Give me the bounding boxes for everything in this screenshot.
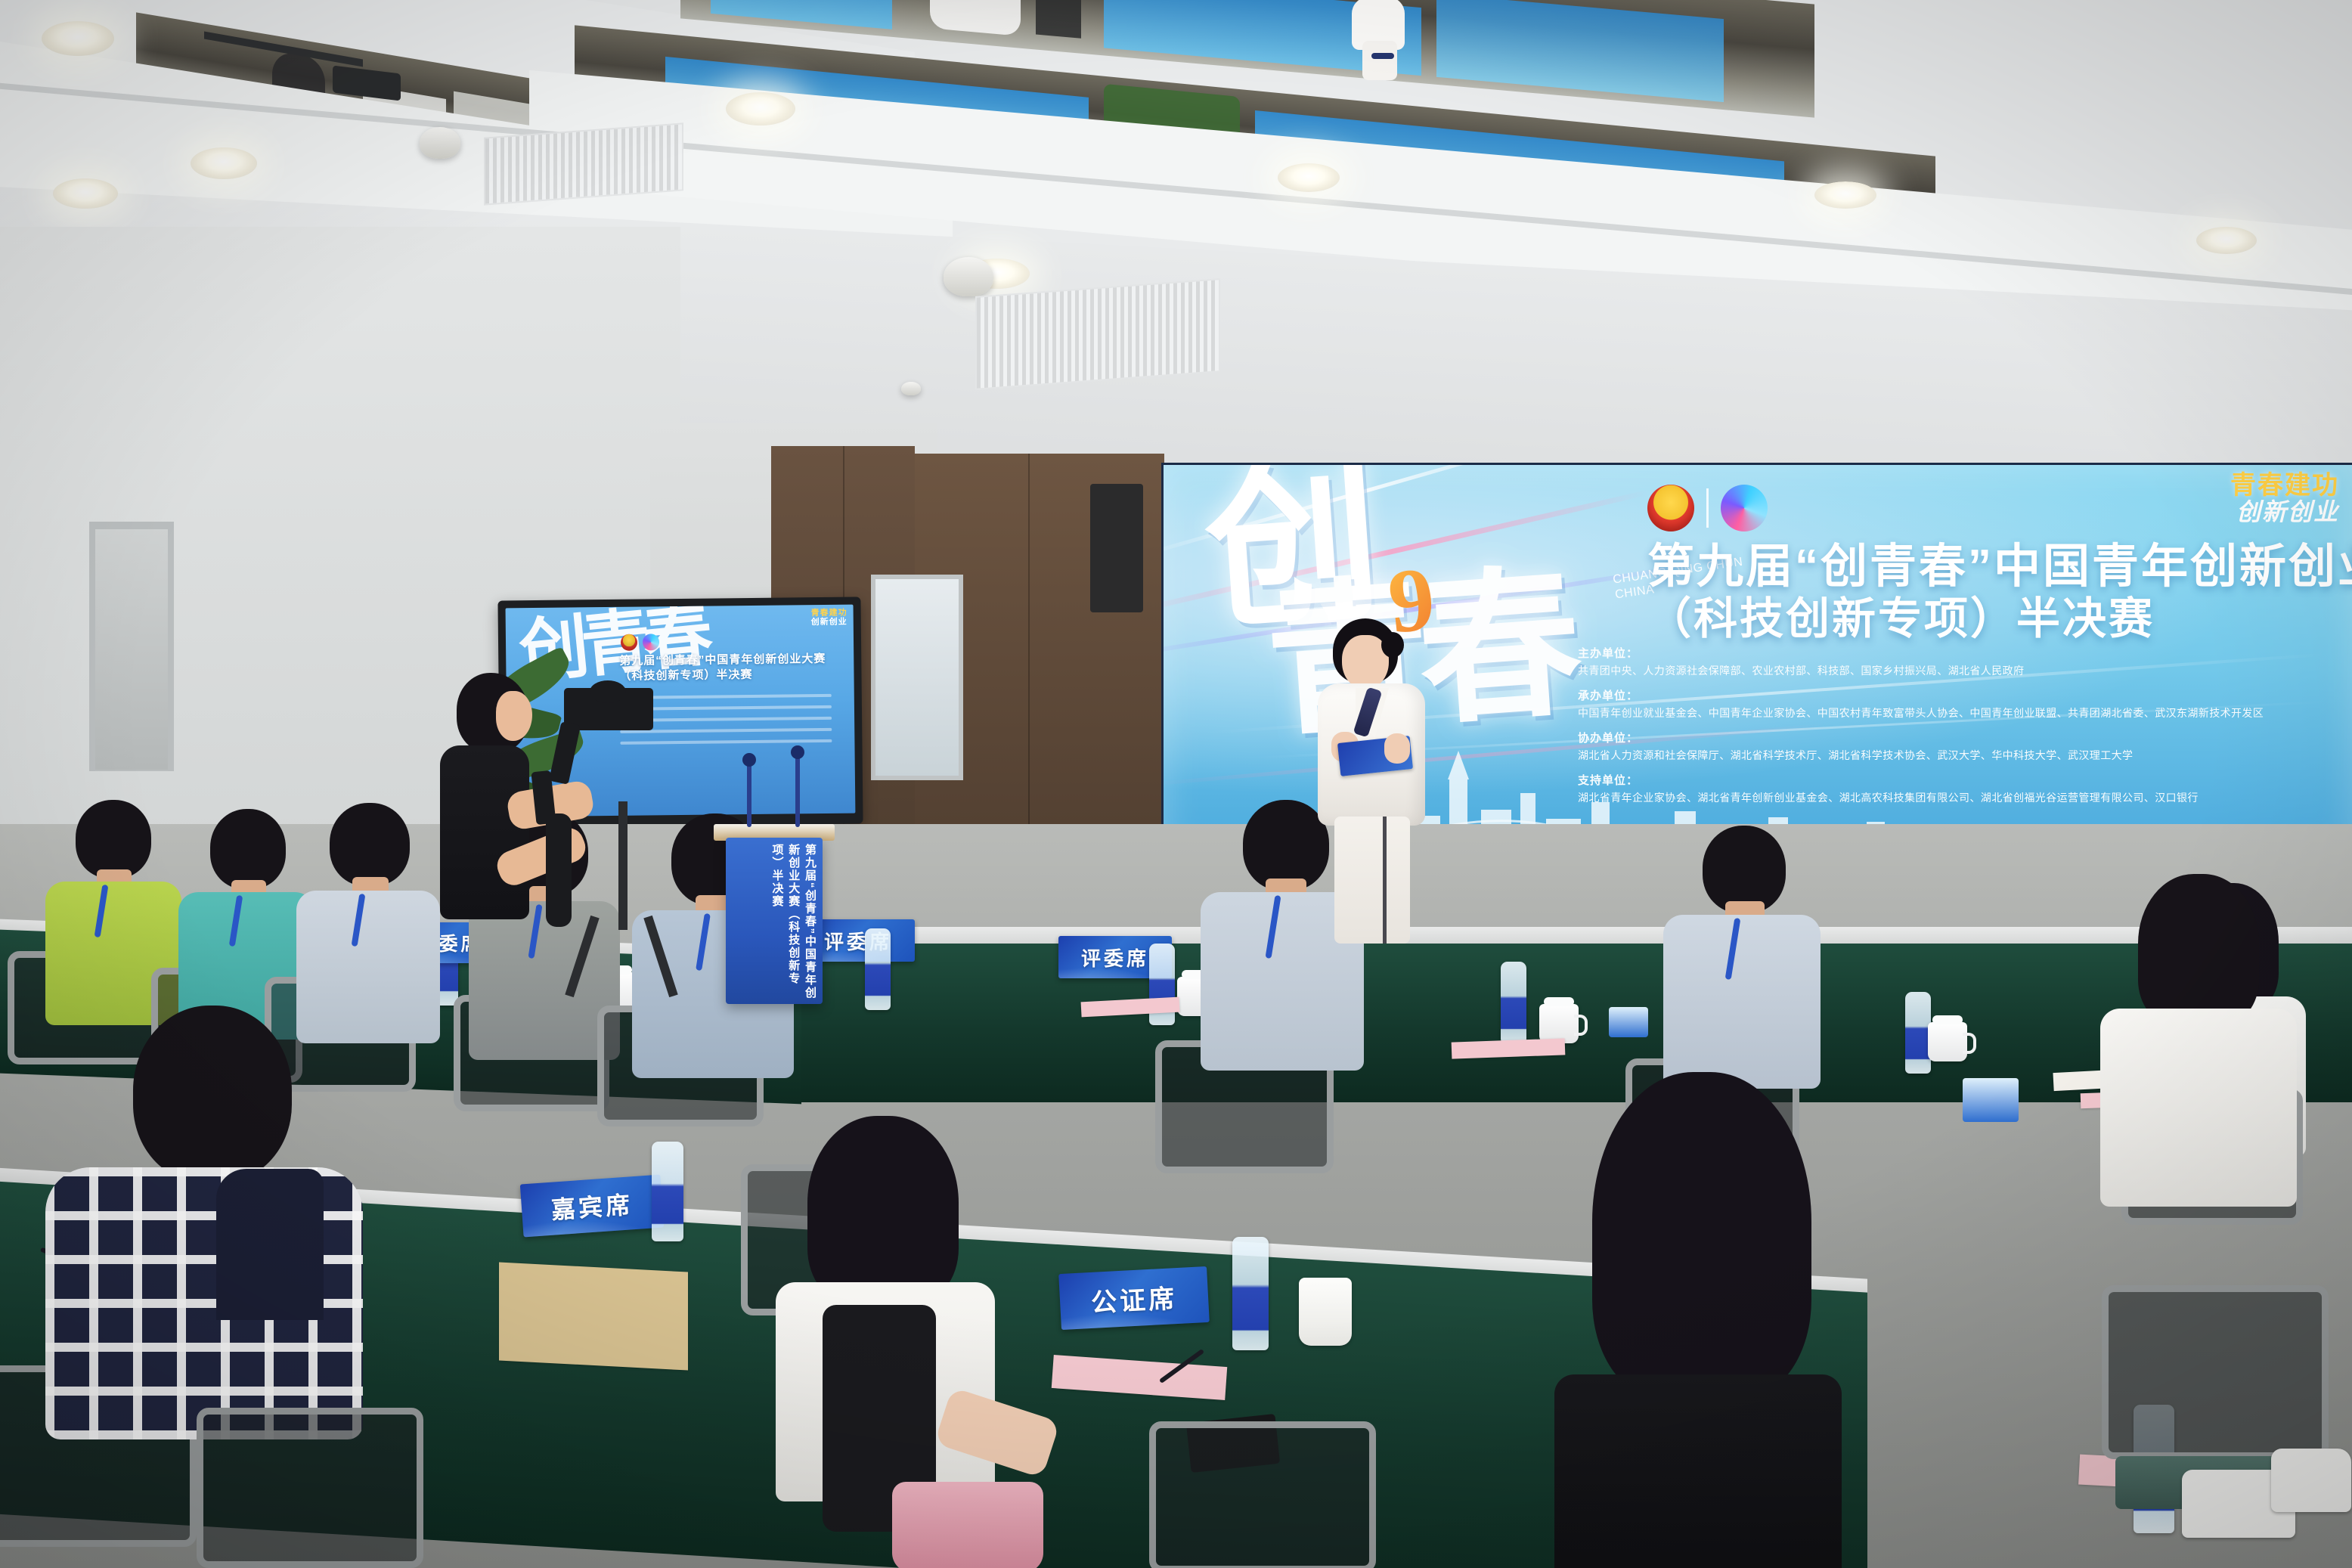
organizer-group: 主办单位： 共青团中央、人力资源社会保障部、农业农村部、科技部、国家乡村振兴局、… xyxy=(1578,645,2349,678)
ceiling-downlight xyxy=(53,178,118,209)
conference-hall-photo: 创 青春 9 CHUANG QING CHUN CHINA xyxy=(0,0,2352,1568)
tissue-box xyxy=(1963,1078,2019,1122)
communist-youth-league-emblem-icon xyxy=(621,634,637,651)
side-monitor-corner-slogan: 青春建功 创新创业 xyxy=(811,609,848,628)
water-bottle[interactable] xyxy=(865,928,891,1010)
water-bottle[interactable] xyxy=(1905,992,1931,1074)
host-trousers xyxy=(1334,817,1410,944)
podium-banner-text: 第九届“创青春”中国青年创新创业大赛（科技创新专项）半决赛 xyxy=(769,844,818,1004)
emblem-divider xyxy=(1706,488,1709,528)
attendee-white-top xyxy=(2100,1009,2297,1207)
judge-person xyxy=(45,800,181,974)
guest-head xyxy=(133,1006,292,1182)
ceiling-downlight xyxy=(2196,227,2257,254)
organizer-label: 支持单位： xyxy=(1578,772,2349,788)
organizer-label: 主办单位： xyxy=(1578,645,2349,661)
side-monitor-title-line1: 第九届“创青春”中国青年创新创业大赛 xyxy=(619,652,826,669)
water-bottle[interactable] xyxy=(1232,1237,1269,1350)
podium-microphone xyxy=(795,756,800,827)
screen-title-line1: 第九届“创青春”中国青年创新创业大赛 xyxy=(1647,541,2352,593)
organizer-group: 协办单位： 湖北省人力资源和社会保障厅、湖北省科学技术厅、湖北省科学技术协会、武… xyxy=(1578,730,2349,763)
corner-slogan: 青春建功 创新创业 xyxy=(2230,473,2339,525)
ceiling-reflection-host xyxy=(1338,0,1421,80)
water-bottle[interactable] xyxy=(1501,962,1526,1043)
door[interactable] xyxy=(95,529,168,770)
attendee-hair xyxy=(2138,874,2259,1025)
corner-slogan-line2: 创新创业 xyxy=(2230,500,2339,525)
judge-person xyxy=(1660,826,1821,1075)
tea-mug[interactable] xyxy=(1928,1022,1967,1061)
emblem-group xyxy=(1647,485,1768,531)
tea-mug[interactable] xyxy=(1539,1004,1579,1043)
side-monitor-emblems xyxy=(621,634,659,651)
tissue-box xyxy=(1609,1007,1648,1037)
chuangqingchun-logo-icon xyxy=(1721,485,1768,531)
podium-microphone-head xyxy=(742,753,756,767)
paper-cup[interactable] xyxy=(1299,1278,1352,1346)
window-strip xyxy=(871,575,963,780)
wall-speaker xyxy=(1090,484,1143,612)
air-vent xyxy=(975,278,1220,390)
guest-black-top xyxy=(1554,1374,1842,1568)
organizer-list: 主办单位： 共青团中央、人力资源社会保障部、农业农村部、科技部、国家乡村振兴局、… xyxy=(1578,645,2349,814)
judge-person xyxy=(296,803,440,992)
ceiling-downlight xyxy=(726,92,795,126)
podium-microphone xyxy=(747,764,751,827)
organizer-value: 中国青年创业就业基金会、中国青年企业家协会、中国农村青年致富带头人协会、中国青年… xyxy=(1578,705,2349,720)
organizer-value: 共青团中央、人力资源社会保障部、农业农村部、科技部、国家乡村振兴局、湖北省人民政… xyxy=(1578,663,2349,678)
organizer-value: 湖北省人力资源和社会保障厅、湖北省科学技术厅、湖北省科学技术协会、武汉大学、华中… xyxy=(1578,748,2349,763)
podium: 第九届“创青春”中国青年创新创业大赛（科技创新专项）半决赛 xyxy=(726,838,823,1004)
organizer-label: 协办单位： xyxy=(1578,730,2349,745)
camera-operator-shirt xyxy=(440,745,529,919)
folder[interactable] xyxy=(499,1262,688,1370)
host-right-hand xyxy=(1384,733,1410,764)
nameplate-notary: 公证席 xyxy=(1058,1266,1210,1330)
shoe xyxy=(2271,1449,2351,1512)
corner-slogan-line1: 青春建功 xyxy=(2230,473,2339,500)
screen-title: 第九届“创青春”中国青年创新创业大赛 （科技创新专项）半决赛 xyxy=(1647,541,2352,646)
ceiling-downlight xyxy=(42,21,114,56)
attendee-person xyxy=(2094,874,2298,1191)
side-monitor-title: 第九届“创青春”中国青年创新创业大赛 （科技创新专项）半决赛 xyxy=(619,652,826,684)
handbag[interactable] xyxy=(892,1482,1043,1568)
nameplate-guest: 嘉宾席 xyxy=(520,1175,664,1238)
sprinkler-head xyxy=(901,382,921,395)
host-hair-bun xyxy=(1381,632,1404,658)
guest-long-hair xyxy=(1592,1072,1811,1397)
smoke-detector xyxy=(420,127,460,159)
organizer-label: 承办单位： xyxy=(1578,687,2349,703)
organizer-value: 湖北省青年企业家协会、湖北省青年创新创业基金会、湖北高农科技集团有限公司、湖北省… xyxy=(1578,790,2349,805)
organizer-group: 承办单位： 中国青年创业就业基金会、中国青年企业家协会、中国农村青年致富带头人协… xyxy=(1578,687,2349,720)
podium-microphone-head xyxy=(791,745,804,759)
ceiling-downlight xyxy=(191,147,257,179)
judge-person xyxy=(178,809,315,990)
screen-title-line2: （科技创新专项）半决赛 xyxy=(1647,593,2352,646)
smoke-detector xyxy=(944,257,993,296)
guest-shoulder xyxy=(216,1169,324,1320)
guest-hair xyxy=(807,1116,959,1305)
water-bottle[interactable] xyxy=(652,1142,683,1241)
ceiling-downlight xyxy=(1278,163,1340,192)
communist-youth-league-emblem-icon xyxy=(1647,485,1694,531)
guest-person xyxy=(1536,1072,1854,1568)
ceiling-downlight xyxy=(1814,181,1876,209)
chuangqingchun-logo-icon xyxy=(643,634,659,650)
guest-person xyxy=(45,1006,363,1429)
organizer-group: 支持单位： 湖北省青年企业家协会、湖北省青年创新创业基金会、湖北高农科技集团有限… xyxy=(1578,772,2349,805)
host-presenter xyxy=(1312,618,1433,944)
camera-tripod xyxy=(559,801,688,998)
